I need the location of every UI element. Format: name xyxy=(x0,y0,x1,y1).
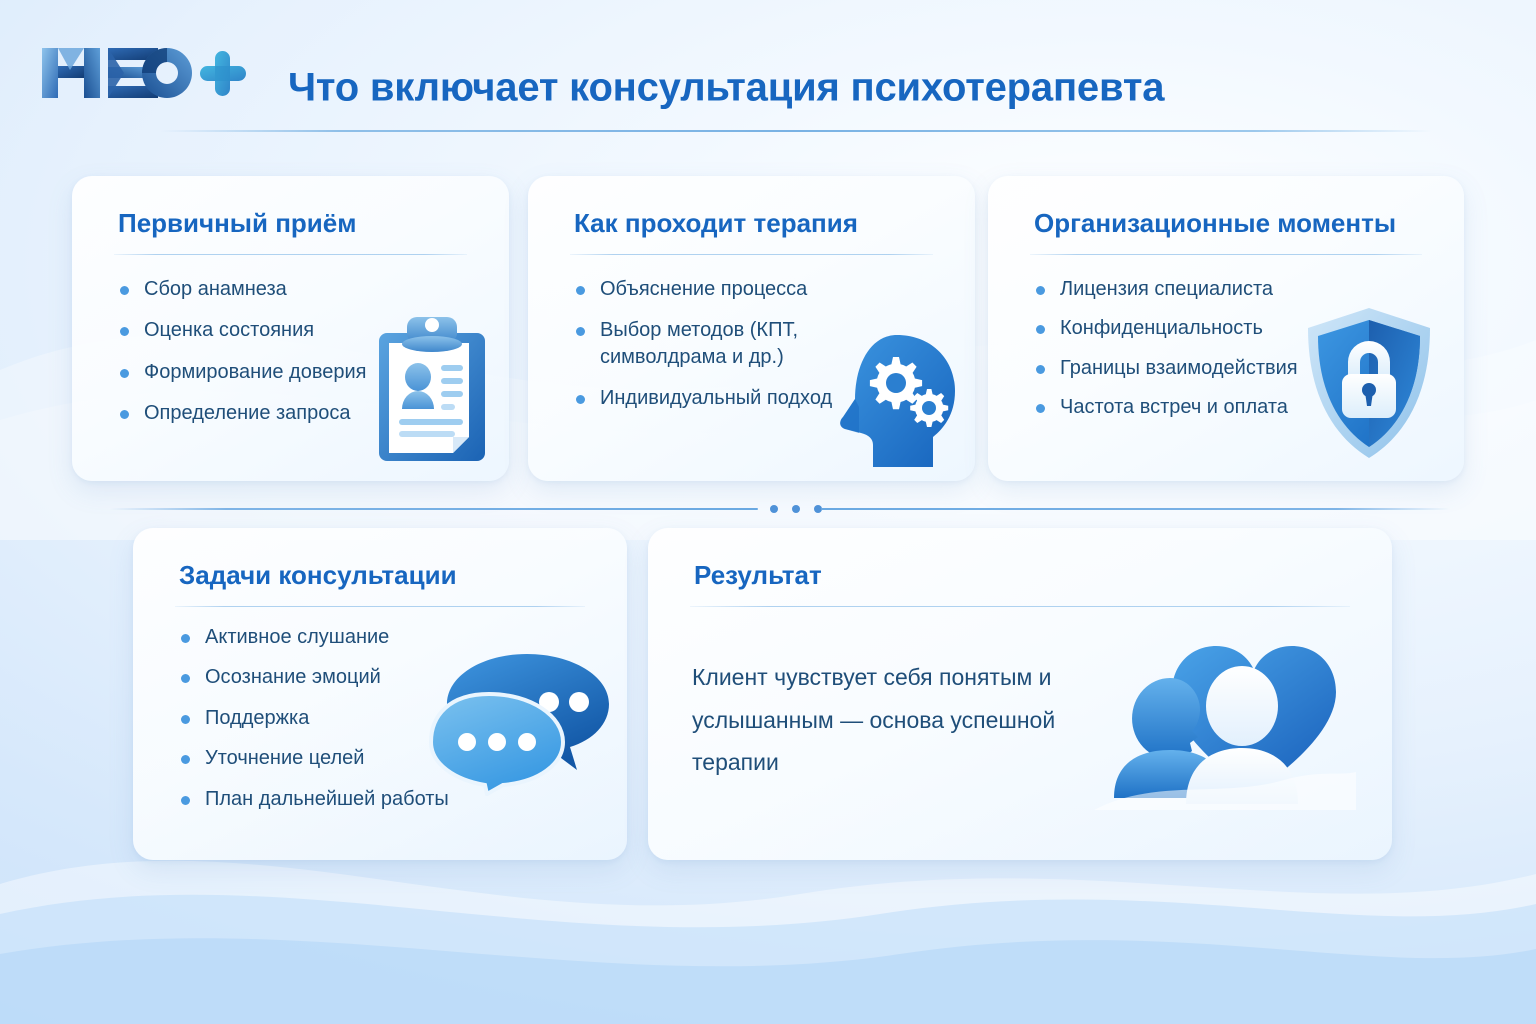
header-divider xyxy=(160,130,1432,132)
list-item: Частота встреч и оплата xyxy=(1034,394,1298,420)
list-item: Определение запроса xyxy=(118,400,366,426)
list-item: Индивидуальный подход xyxy=(574,385,846,411)
card-primary-intake: Первичный приём Сбор анамнеза Оценка сос… xyxy=(72,176,509,481)
card-result: Результат Клиент чувствует себя понятым … xyxy=(648,528,1392,860)
result-body-text: Клиент чувствует себя понятым и услышанн… xyxy=(692,656,1092,784)
list-item: Лицензия специалиста xyxy=(1034,276,1298,302)
card-title: Организационные моменты xyxy=(1034,208,1396,239)
speech-bubbles-icon xyxy=(427,646,615,796)
neo-plus-logo-icon xyxy=(40,42,250,104)
divider-dot xyxy=(792,505,800,513)
list-item: Осознание эмоций xyxy=(179,664,449,690)
head-gears-icon xyxy=(839,333,961,469)
card-organizational: Организационные моменты Лицензия специал… xyxy=(988,176,1464,481)
card-title-divider xyxy=(690,606,1350,607)
card-title-divider xyxy=(1030,254,1422,255)
header: Что включает консультация психотерапевта xyxy=(40,36,1440,136)
list-item: Оценка состояния xyxy=(118,317,366,343)
list-item: Сбор анамнеза xyxy=(118,276,366,302)
page-title: Что включает консультация психотерапевта xyxy=(288,66,1164,111)
card-title: Задачи консультации xyxy=(179,560,457,591)
divider-line-right xyxy=(821,508,1450,510)
divider-dot xyxy=(770,505,778,513)
list-item: Формирование доверия xyxy=(118,359,366,385)
list-item: Активное слушание xyxy=(179,624,449,650)
clipboard-person-icon xyxy=(373,315,491,465)
list-item: Поддержка xyxy=(179,705,449,731)
divider-line-left xyxy=(110,508,758,510)
card-title-divider xyxy=(570,254,933,255)
section-divider xyxy=(110,501,1450,517)
card-title-divider xyxy=(175,606,585,607)
card-title: Как проходит терапия xyxy=(574,208,858,239)
bullet-list: Лицензия специалиста Конфиденциальность … xyxy=(1034,276,1298,434)
heart-people-icon xyxy=(1094,640,1356,810)
bullet-list: Сбор анамнеза Оценка состояния Формирова… xyxy=(118,276,366,442)
list-item: Уточнение целей xyxy=(179,745,449,771)
card-consultation-tasks: Задачи консультации Активное слушание Ос… xyxy=(133,528,627,860)
list-item: Конфиденциальность xyxy=(1034,315,1298,341)
list-item: План дальнейшей работы xyxy=(179,786,449,812)
list-item: Границы взаимодействия xyxy=(1034,355,1298,381)
card-title: Результат xyxy=(694,560,822,591)
bullet-list: Активное слушание Осознание эмоций Подде… xyxy=(179,624,449,826)
shield-lock-icon xyxy=(1304,306,1434,461)
card-title: Первичный приём xyxy=(118,208,356,239)
card-title-divider xyxy=(114,254,467,255)
list-item: Объяснение процесса xyxy=(574,276,846,302)
card-therapy-process: Как проходит терапия Объяснение процесса… xyxy=(528,176,975,481)
list-item: Выбор методов (КПТ, символдрама и др.) xyxy=(574,317,846,370)
bullet-list: Объяснение процесса Выбор методов (КПТ, … xyxy=(574,276,846,427)
